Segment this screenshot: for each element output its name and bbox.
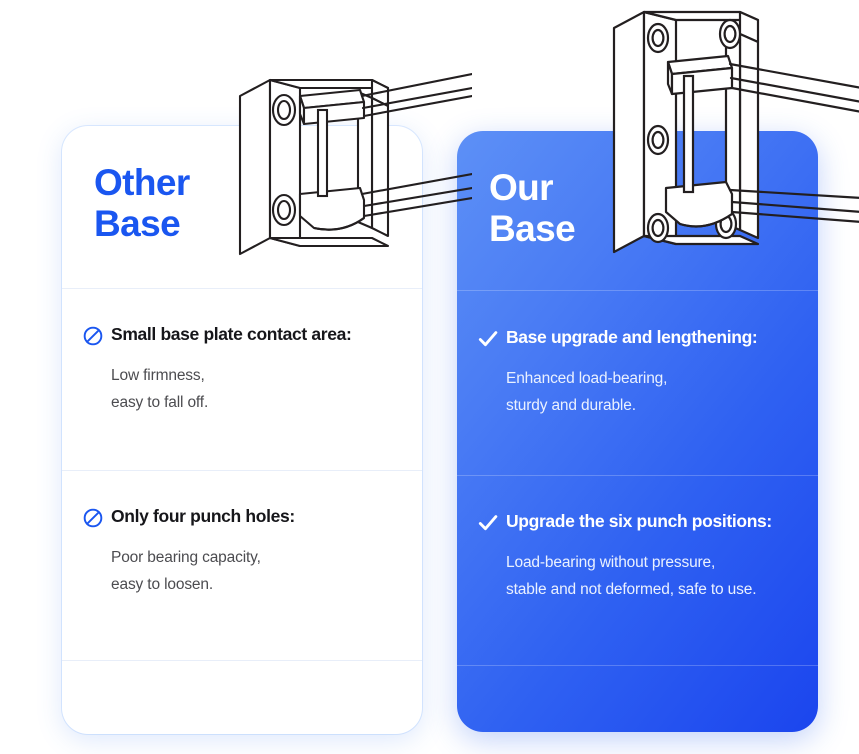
our-feature-2: Upgrade the six punch positions: Load-be… bbox=[477, 511, 804, 603]
other-base-card: Other Base Small base plate contact area… bbox=[62, 126, 422, 734]
our-divider-2 bbox=[457, 475, 818, 476]
other-base-heading: Other Base bbox=[94, 162, 190, 245]
our-feature-1-body: Enhanced load-bearing, sturdy and durabl… bbox=[506, 366, 804, 419]
other-feature-1-body: Low firmness, easy to fall off. bbox=[111, 363, 408, 416]
other-feature-2-title-row: Only four punch holes: bbox=[82, 506, 408, 529]
other-feature-1-title-row: Small base plate contact area: bbox=[82, 324, 408, 347]
other-feature-2: Only four punch holes: Poor bearing capa… bbox=[82, 506, 408, 598]
our-base-heading: Our Base bbox=[489, 167, 575, 250]
our-divider-3 bbox=[457, 665, 818, 666]
check-icon bbox=[477, 512, 499, 534]
our-base-card: Our Base Base upgrade and lengthening: E… bbox=[457, 131, 818, 732]
our-feature-2-title: Upgrade the six punch positions: bbox=[506, 511, 772, 533]
other-feature-1-title: Small base plate contact area: bbox=[111, 324, 351, 346]
other-feature-2-body: Poor bearing capacity, easy to loosen. bbox=[111, 545, 408, 598]
our-feature-1: Base upgrade and lengthening: Enhanced l… bbox=[477, 327, 804, 419]
check-icon bbox=[477, 328, 499, 350]
our-feature-2-title-row: Upgrade the six punch positions: bbox=[477, 511, 804, 534]
prohibition-icon bbox=[82, 507, 104, 529]
other-divider-1 bbox=[62, 288, 422, 289]
our-divider-1 bbox=[457, 290, 818, 291]
other-feature-1: Small base plate contact area: Low firmn… bbox=[82, 324, 408, 416]
our-feature-1-title-row: Base upgrade and lengthening: bbox=[477, 327, 804, 350]
our-feature-1-title: Base upgrade and lengthening: bbox=[506, 327, 757, 349]
other-divider-2 bbox=[62, 470, 422, 471]
prohibition-icon bbox=[82, 325, 104, 347]
comparison-infographic: Other Base Small base plate contact area… bbox=[0, 0, 859, 754]
other-divider-3 bbox=[62, 660, 422, 661]
other-feature-2-title: Only four punch holes: bbox=[111, 506, 295, 528]
our-feature-2-body: Load-bearing without pressure, stable an… bbox=[506, 550, 804, 603]
